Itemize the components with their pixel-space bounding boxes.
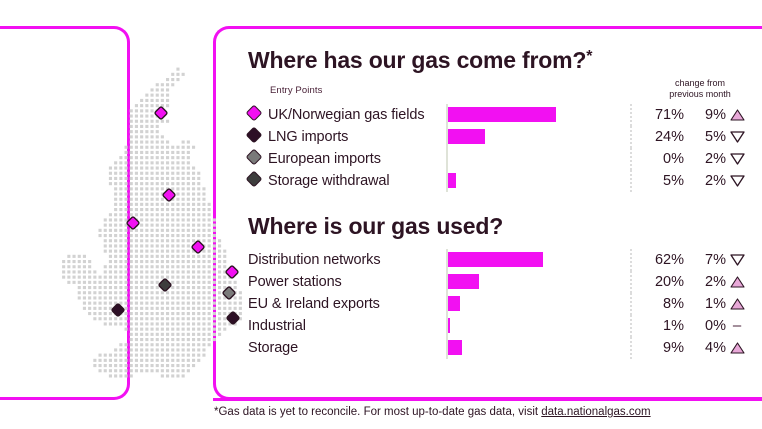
row-change-value: 4% [684, 337, 726, 359]
row-bar-cell [442, 104, 632, 126]
table-row: Storage9%4% [248, 337, 748, 359]
row-percentage: 24% [632, 126, 684, 148]
bar-track [446, 337, 632, 359]
row-label: Power stations [248, 271, 442, 293]
entry-points-label: Entry Points [270, 85, 322, 96]
section2-title: Where is our gas used? [248, 214, 748, 239]
change-header-line2: previous month [669, 89, 731, 99]
map-marker-diamond-icon [226, 311, 239, 324]
row-change-direction-icon [726, 170, 748, 192]
row-change-value: 2% [684, 271, 726, 293]
bar-track [446, 170, 632, 192]
bar-track [446, 148, 632, 170]
row-label: Storage [248, 337, 442, 359]
row-percentage: 1% [632, 315, 684, 337]
row-label: European imports [268, 148, 442, 170]
row-bar-cell [442, 293, 632, 315]
table-row: Distribution networks62%7% [248, 249, 748, 271]
column-divider [630, 271, 632, 293]
diamond-icon [246, 105, 263, 122]
section2-rows-table: Distribution networks62%7%Power stations… [248, 249, 748, 359]
column-divider [630, 148, 632, 170]
section1-title-asterisk: * [586, 48, 592, 65]
row-label: Storage withdrawal [268, 170, 442, 192]
row-bar-cell [442, 249, 632, 271]
map-marker-diamond-icon [158, 278, 171, 291]
row-change-direction-icon: – [726, 315, 748, 337]
row-change-value: 2% [684, 148, 726, 170]
bar-fill [448, 129, 485, 144]
content-panel: Where has our gas come from?* Entry Poin… [248, 48, 748, 359]
row-change-direction-icon [726, 293, 748, 315]
bar-track [446, 293, 632, 315]
footnote: *Gas data is yet to reconcile. For most … [214, 406, 651, 418]
bar-track [446, 104, 632, 126]
map-marker-diamond-icon [126, 216, 139, 229]
map-marker-diamond-icon [225, 265, 238, 278]
row-bar-cell [442, 126, 632, 148]
row-change-value: 9% [684, 104, 726, 126]
table-row: Storage withdrawal5%2% [248, 170, 748, 192]
footer-rule [213, 398, 762, 401]
row-bar-cell [442, 337, 632, 359]
row-change-direction-icon [726, 337, 748, 359]
column-divider [630, 293, 632, 315]
bar-fill [448, 173, 456, 188]
uk-dotted-map [18, 60, 250, 405]
table-row: European imports0%2% [248, 148, 748, 170]
bar-track [446, 315, 632, 337]
row-marker-cell [248, 170, 268, 192]
section1-rows-table: UK/Norwegian gas fields71%9%LNG imports2… [248, 104, 748, 192]
row-label: Industrial [248, 315, 442, 337]
table-row: Industrial1%0%– [248, 315, 748, 337]
row-change-direction-icon [726, 249, 748, 271]
row-change-value: 1% [684, 293, 726, 315]
map-marker-diamond-icon [111, 303, 124, 316]
table-row: EU & Ireland exports8%1% [248, 293, 748, 315]
column-divider [630, 249, 632, 271]
bar-fill [448, 274, 479, 289]
bar-track [446, 271, 632, 293]
section1-title: Where has our gas come from?* [248, 48, 748, 73]
row-percentage: 20% [632, 271, 684, 293]
row-change-value: 5% [684, 126, 726, 148]
column-divider [630, 337, 632, 359]
table-row: Power stations20%2% [248, 271, 748, 293]
section1-column-headers: Entry Points change from previous month [248, 82, 748, 104]
row-change-value: 2% [684, 170, 726, 192]
diamond-icon [246, 171, 263, 188]
change-from-previous-month-header: change from previous month [652, 78, 748, 99]
no-change-dash: – [733, 317, 741, 334]
row-bar-cell [442, 271, 632, 293]
bar-fill [448, 107, 556, 122]
row-percentage: 9% [632, 337, 684, 359]
row-bar-cell [442, 170, 632, 192]
row-bar-cell [442, 315, 632, 337]
diamond-icon [246, 127, 263, 144]
nationalgas-data-link[interactable]: data.nationalgas.com [541, 406, 650, 418]
column-divider [630, 104, 632, 126]
row-percentage: 71% [632, 104, 684, 126]
row-label: UK/Norwegian gas fields [268, 104, 442, 126]
diamond-icon [246, 149, 263, 166]
footnote-text: *Gas data is yet to reconcile. For most … [214, 406, 541, 418]
section1-title-text: Where has our gas come from? [248, 47, 586, 73]
map-marker-diamond-icon [154, 106, 167, 119]
column-divider [630, 315, 632, 337]
row-change-value: 0% [684, 315, 726, 337]
column-divider [630, 170, 632, 192]
table-row: LNG imports24%5% [248, 126, 748, 148]
row-change-direction-icon [726, 104, 748, 126]
row-change-direction-icon [726, 126, 748, 148]
bar-track [446, 126, 632, 148]
row-bar-cell [442, 148, 632, 170]
section-gas-usage: Where is our gas used? Distribution netw… [248, 214, 748, 358]
row-percentage: 5% [632, 170, 684, 192]
bar-fill [448, 318, 450, 333]
row-label: Distribution networks [248, 249, 442, 271]
section-gas-source: Where has our gas come from?* Entry Poin… [248, 48, 748, 192]
row-marker-cell [248, 104, 268, 126]
bar-fill [448, 296, 460, 311]
row-marker-cell [248, 126, 268, 148]
bar-fill [448, 340, 462, 355]
row-percentage: 62% [632, 249, 684, 271]
row-percentage: 8% [632, 293, 684, 315]
bar-track [446, 249, 632, 271]
bar-fill [448, 252, 543, 267]
column-divider [630, 126, 632, 148]
row-label: EU & Ireland exports [248, 293, 442, 315]
row-label: LNG imports [268, 126, 442, 148]
change-header-line1: change from [675, 78, 725, 88]
row-change-value: 7% [684, 249, 726, 271]
row-change-direction-icon [726, 271, 748, 293]
row-change-direction-icon [726, 148, 748, 170]
table-row: UK/Norwegian gas fields71%9% [248, 104, 748, 126]
row-percentage: 0% [632, 148, 684, 170]
row-marker-cell [248, 148, 268, 170]
